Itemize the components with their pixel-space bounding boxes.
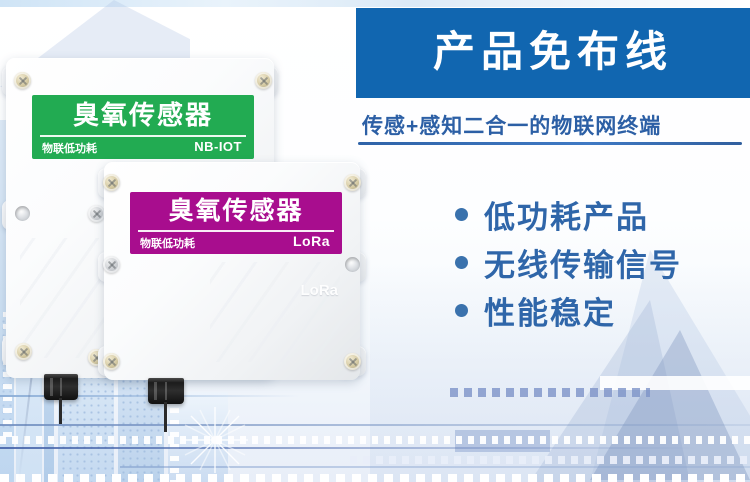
background-rule-2 xyxy=(0,424,750,426)
mount-hole-mid-right xyxy=(345,257,360,272)
promo-banner-image: 臭氧传感器 物联低功耗 NB-IOT 臭氧传感器 xyxy=(0,0,750,482)
feature-item-2: 无线传输信号 xyxy=(455,238,745,286)
cable-gland-lora xyxy=(148,378,184,404)
product-label-nbiot: 臭氧传感器 物联低功耗 NB-IOT xyxy=(32,95,254,159)
screw-bottom-right xyxy=(344,353,361,370)
background-rule-3 xyxy=(0,447,700,449)
bullet-dot-icon xyxy=(455,256,468,269)
headline-text: 产品免布线 xyxy=(356,22,750,82)
cable-wire-nbiot xyxy=(59,398,62,424)
product-subtitle-left: 物联低功耗 xyxy=(140,235,195,251)
screw-bottom-left xyxy=(15,343,32,360)
mount-hole-mid-left xyxy=(15,206,30,221)
label-divider xyxy=(138,230,334,232)
bullet-dot-icon xyxy=(455,208,468,221)
feature-item-1: 低功耗产品 xyxy=(455,190,745,238)
enclosure-watermark: LoRa xyxy=(301,282,339,299)
feature-label: 性能稳定 xyxy=(484,288,616,333)
background-square-row-bottom xyxy=(0,474,750,482)
feature-label: 无线传输信号 xyxy=(484,240,682,285)
product-protocol-badge: LoRa xyxy=(293,233,330,249)
screw-mid-left xyxy=(103,256,120,273)
screw-top-left xyxy=(103,174,120,191)
screw-top-left xyxy=(14,72,31,89)
subtitle-text: 传感+感知二合一的物联网终端 xyxy=(362,110,661,140)
product-subtitle-left: 物联低功耗 xyxy=(42,140,97,156)
label-divider xyxy=(40,135,246,137)
subtitle-underline xyxy=(358,142,742,145)
bullet-dot-icon xyxy=(455,304,468,317)
product-title: 臭氧传感器 xyxy=(32,98,254,132)
feature-label: 低功耗产品 xyxy=(484,192,649,237)
background-dot-row-2 xyxy=(350,456,750,464)
product-lora-sensor: 臭氧传感器 物联低功耗 LoRa LoRa xyxy=(104,162,360,380)
background-dot-row-1 xyxy=(0,436,750,444)
product-title: 臭氧传感器 xyxy=(130,194,342,228)
screw-mid-center xyxy=(88,205,105,222)
feature-list: 低功耗产品 无线传输信号 性能稳定 xyxy=(455,190,745,334)
product-protocol-badge: NB-IOT xyxy=(194,139,242,154)
screw-top-right xyxy=(255,72,272,89)
screw-bottom-left xyxy=(103,353,120,370)
cable-wire-lora xyxy=(164,402,167,432)
feature-item-3: 性能稳定 xyxy=(455,286,745,334)
product-label-lora: 臭氧传感器 物联低功耗 LoRa xyxy=(130,192,342,254)
background-square-row-top xyxy=(450,388,650,397)
headline-banner: 产品免布线 xyxy=(356,8,750,98)
starburst-icon xyxy=(180,405,250,475)
screw-top-right xyxy=(344,174,361,191)
cable-gland-nbiot xyxy=(44,374,78,400)
